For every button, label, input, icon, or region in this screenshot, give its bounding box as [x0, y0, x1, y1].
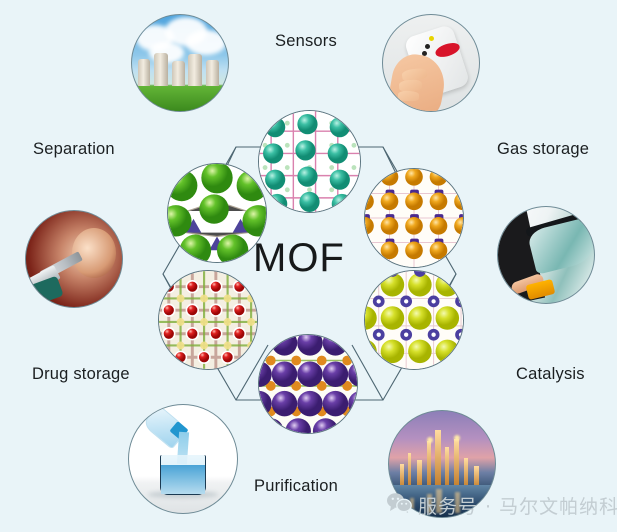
center-title-mof: MOF: [253, 238, 345, 278]
watermark: 服务号 · 马尔文帕纳科: [386, 492, 617, 519]
mof-structure-teal: [258, 110, 361, 213]
label-separation: Separation: [33, 140, 115, 159]
label-gas-storage: Gas storage: [497, 140, 589, 159]
mof-structure-lime: [364, 270, 464, 370]
label-drug-storage: Drug storage: [32, 365, 130, 384]
photo-purification: [128, 404, 238, 514]
mof-structure-orange: [364, 168, 464, 268]
mof-structure-red: [158, 270, 258, 370]
watermark-text: 服务号 · 马尔文帕纳科: [418, 492, 617, 519]
label-purification: Purification: [254, 477, 338, 496]
label-catalysis: Catalysis: [516, 365, 585, 384]
mof-structure-green: [167, 163, 267, 263]
mof-structure-purple: [258, 334, 358, 434]
photo-gas-storage: [497, 206, 595, 304]
label-sensors: Sensors: [275, 32, 337, 51]
photo-sensors: [382, 14, 480, 112]
photo-separation: [131, 14, 229, 112]
photo-drug-storage: [25, 210, 123, 308]
infographic-canvas: MOF Sensors Separation Gas storage Drug …: [0, 0, 617, 532]
wechat-icon: [386, 492, 412, 519]
